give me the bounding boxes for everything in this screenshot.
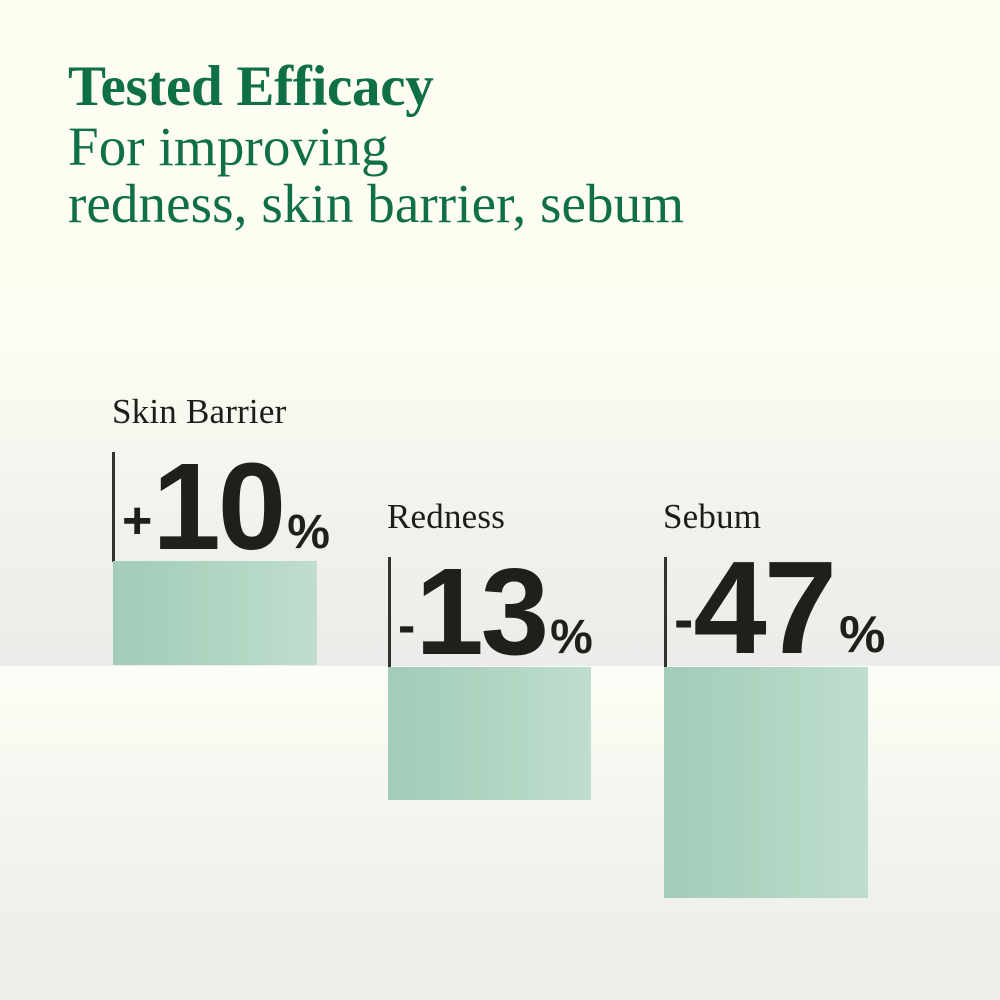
value-sign-sebum: -	[674, 591, 693, 665]
metric-label-redness: Redness	[387, 497, 505, 537]
tick-line-redness	[388, 557, 391, 667]
tick-line-sebum	[664, 557, 667, 667]
value-sebum: - 47 %	[674, 557, 885, 665]
value-percent-redness: %	[546, 614, 593, 666]
bar-sebum	[664, 667, 868, 898]
efficacy-bar-chart: Skin Barrier + 10 % Redness - 13 % Sebum	[0, 0, 1000, 1000]
metric-label-sebum: Sebum	[663, 497, 761, 537]
value-number-sebum: 47	[693, 551, 834, 665]
value-redness: - 13 %	[398, 560, 593, 666]
value-number-skin-barrier: 10	[152, 455, 283, 561]
value-sign-skin-barrier: +	[122, 495, 152, 561]
tick-line-skin-barrier	[112, 452, 115, 562]
bar-redness	[388, 667, 591, 800]
value-percent-skin-barrier: %	[283, 509, 330, 561]
bar-skin-barrier	[113, 561, 317, 665]
value-sign-redness: -	[398, 600, 415, 666]
value-number-redness: 13	[415, 560, 546, 666]
value-percent-sebum: %	[834, 609, 885, 665]
value-skin-barrier: + 10 %	[122, 455, 330, 561]
metric-label-skin-barrier: Skin Barrier	[112, 392, 286, 432]
infographic-canvas: Tested Efficacy For improving redness, s…	[0, 0, 1000, 1000]
